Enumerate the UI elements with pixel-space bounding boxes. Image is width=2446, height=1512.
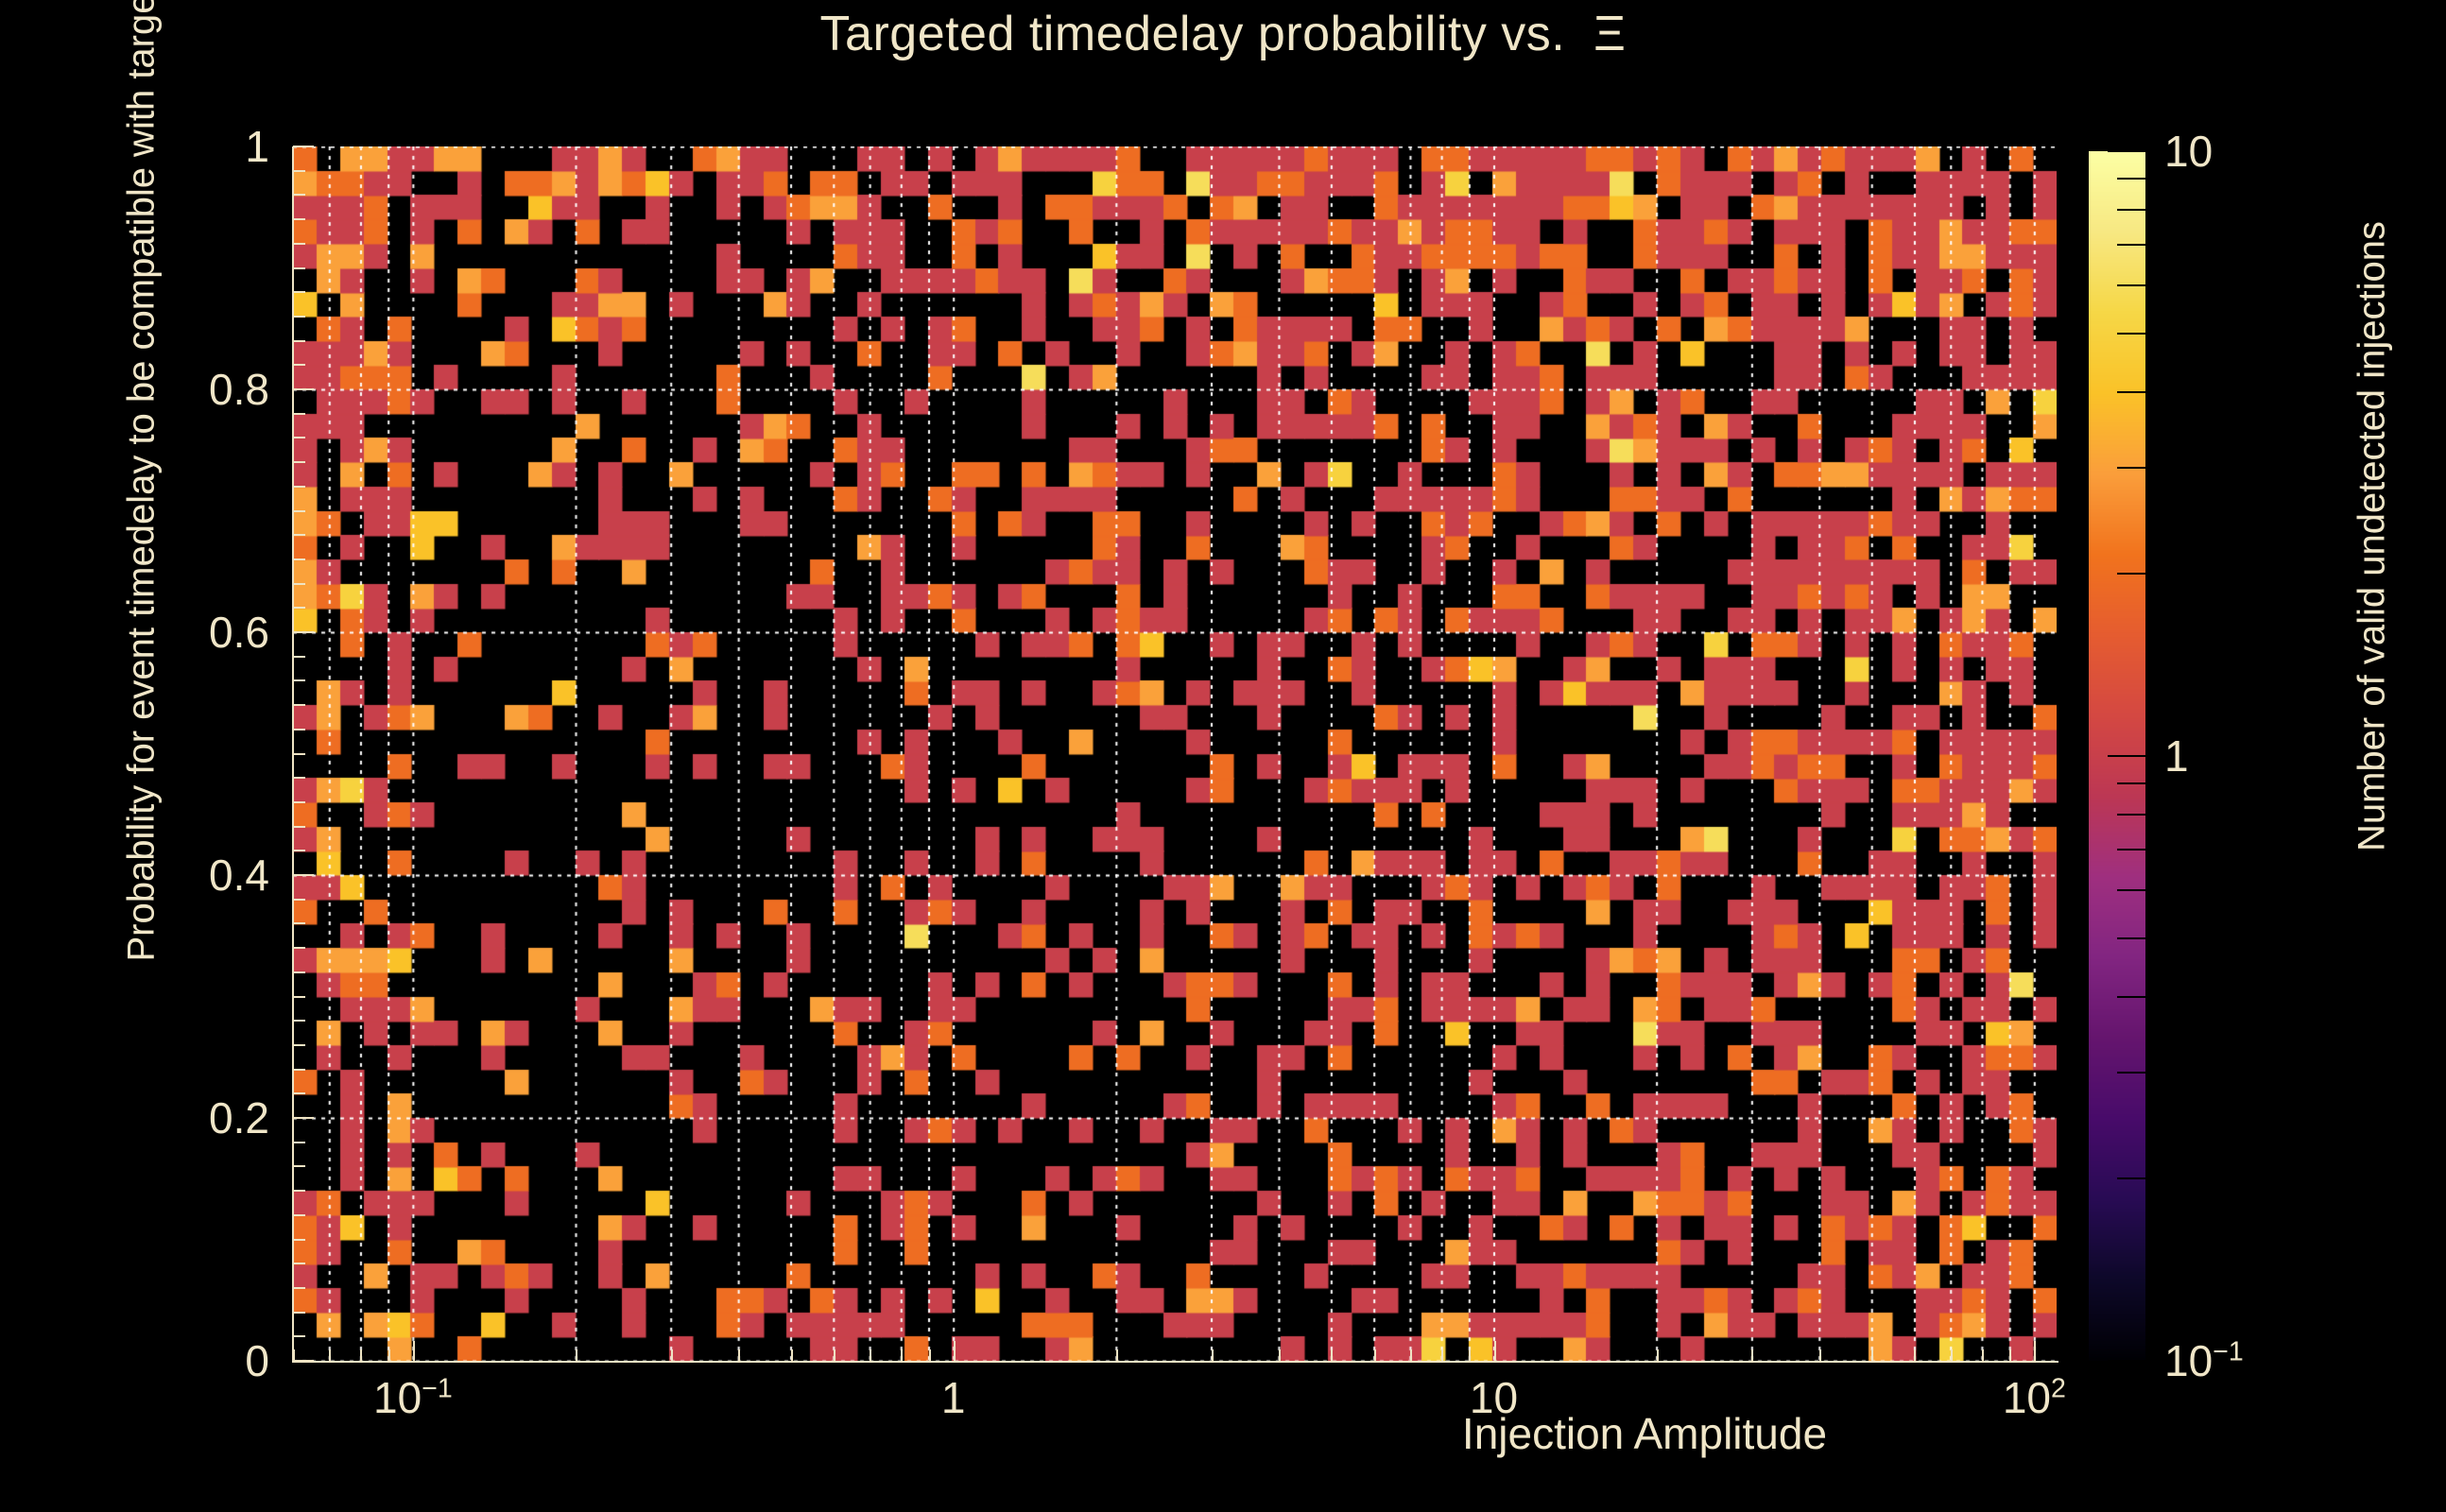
colorbar-tick-minor [2117, 1072, 2145, 1074]
x-tick-minor [738, 1349, 740, 1362]
y-tick-label: 0 [0, 1335, 269, 1386]
y-tick [293, 777, 305, 779]
y-tick [293, 826, 305, 828]
y-tick [293, 1069, 305, 1071]
colorbar-tick-minor [2117, 333, 2145, 335]
y-tick [293, 729, 305, 730]
x-tick-minor [1469, 1349, 1471, 1362]
y-tick [293, 1335, 305, 1337]
y-tick [293, 656, 305, 658]
y-tick-label: 0.2 [0, 1092, 269, 1143]
y-tick [293, 922, 305, 924]
y-tick [293, 1263, 305, 1264]
y-tick [293, 291, 305, 293]
colorbar-tick-major [2108, 150, 2145, 152]
x-tick-major [2034, 1341, 2036, 1362]
figure-root: Targeted timedelay probability vs. Ξ 00.… [0, 0, 2446, 1512]
colorbar-tick-minor [2117, 937, 2145, 939]
y-axis-line [292, 146, 294, 1363]
colorbar-tick-minor [2117, 178, 2145, 180]
y-tick [293, 899, 305, 901]
y-tick [293, 679, 305, 681]
x-tick-minor [1374, 1349, 1376, 1362]
y-tick [293, 631, 314, 633]
x-tick-minor [1116, 1349, 1118, 1362]
x-tick-major [413, 1341, 415, 1362]
y-axis-title: Probability for event timedelay to be co… [121, 112, 164, 962]
x-tick-major [954, 1341, 956, 1362]
y-tick [293, 1239, 305, 1241]
y-tick [293, 1214, 305, 1216]
y-tick [293, 704, 305, 706]
y-tick [293, 874, 314, 876]
y-tick [293, 461, 305, 463]
y-tick [293, 1312, 305, 1314]
x-tick-label: 102 [2003, 1372, 2066, 1423]
y-tick [293, 1044, 305, 1046]
y-tick [293, 1092, 305, 1094]
x-tick-minor [1441, 1349, 1443, 1362]
colorbar-tick-major [2108, 755, 2145, 757]
x-tick-minor [576, 1349, 577, 1362]
x-tick-minor [1657, 1349, 1659, 1362]
x-tick-label: 1 [941, 1372, 966, 1423]
y-tick [293, 534, 305, 536]
y-tick [293, 1117, 314, 1119]
x-tick-minor [1914, 1349, 1916, 1362]
x-tick-minor [2009, 1349, 2011, 1362]
colorbar-tick-minor [2117, 467, 2145, 469]
y-tick [293, 437, 305, 438]
x-tick-minor [1751, 1349, 1753, 1362]
y-tick [293, 413, 305, 415]
colorbar-tick-minor [2117, 889, 2145, 891]
colorbar-tick-label: 10−1 [2164, 1335, 2244, 1386]
y-tick [293, 753, 305, 755]
x-tick-minor [360, 1349, 362, 1362]
colorbar-title: Number of valid undetected injections [2351, 112, 2394, 962]
colorbar-tick-minor [2117, 284, 2145, 286]
y-tick [293, 194, 305, 196]
x-tick-minor [1951, 1349, 1953, 1362]
y-tick [293, 583, 305, 585]
colorbar-tick-major [2108, 1360, 2145, 1362]
y-tick [293, 558, 305, 560]
x-tick-label: 10−1 [373, 1372, 453, 1423]
y-tick [293, 170, 305, 172]
y-tick [293, 850, 305, 851]
x-tick-minor [388, 1349, 390, 1362]
y-tick [293, 243, 305, 245]
y-tick [293, 1142, 305, 1143]
y-tick [293, 1020, 305, 1022]
y-tick [293, 316, 305, 318]
y-tick [293, 388, 314, 390]
x-tick-minor [329, 1349, 331, 1362]
colorbar-tick-minor [2117, 1177, 2145, 1179]
y-tick [293, 1190, 305, 1192]
heatmap-plot-area[interactable] [293, 146, 2057, 1361]
colorbar-tick-label: 10 [2164, 126, 2213, 177]
colorbar-tick-minor [2117, 391, 2145, 393]
y-tick [293, 146, 314, 147]
y-tick [293, 218, 305, 220]
x-axis-line [292, 1361, 2058, 1363]
y-tick [293, 364, 305, 366]
x-tick-minor [791, 1349, 793, 1362]
colorbar-tick-minor [2117, 996, 2145, 998]
x-tick-minor [870, 1349, 871, 1362]
heatmap-canvas[interactable] [293, 146, 2057, 1361]
y-tick [293, 486, 305, 488]
y-tick [293, 607, 305, 609]
x-tick-minor [1871, 1349, 1873, 1362]
y-tick [293, 267, 305, 269]
x-tick-minor [1410, 1349, 1412, 1362]
x-tick-minor [1279, 1349, 1281, 1362]
x-tick-minor [1331, 1349, 1333, 1362]
x-tick-minor [293, 1349, 295, 1362]
colorbar-tick-minor [2117, 814, 2145, 816]
y-tick [293, 947, 305, 949]
y-tick [293, 801, 305, 803]
x-tick-major [1494, 1341, 1496, 1362]
colorbar-tick-label: 1 [2164, 730, 2189, 782]
colorbar-tick-minor [2117, 782, 2145, 784]
y-tick [293, 510, 305, 512]
page-title: Targeted timedelay probability vs. Ξ [0, 6, 2446, 62]
x-tick-minor [1819, 1349, 1821, 1362]
y-tick [293, 971, 305, 973]
x-tick-minor [901, 1349, 903, 1362]
x-tick-minor [1212, 1349, 1214, 1362]
x-axis-title: Injection Amplitude [1462, 1408, 1827, 1459]
colorbar-tick-minor [2117, 849, 2145, 850]
x-tick-minor [929, 1349, 931, 1362]
y-tick [293, 996, 305, 998]
y-tick [293, 1360, 314, 1362]
colorbar-tick-minor [2117, 209, 2145, 211]
x-tick-minor [671, 1349, 673, 1362]
y-tick [293, 1165, 305, 1167]
y-tick [293, 1287, 305, 1289]
colorbar-tick-minor [2117, 244, 2145, 246]
x-tick-minor [1982, 1349, 1984, 1362]
x-tick-minor [834, 1349, 835, 1362]
y-tick [293, 340, 305, 342]
colorbar-tick-minor [2117, 573, 2145, 575]
